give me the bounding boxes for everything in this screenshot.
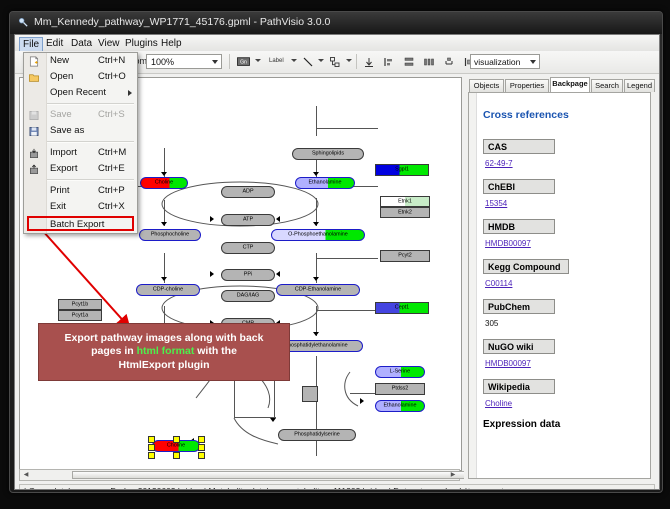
xref-link-kegg[interactable]: C00114	[485, 279, 512, 288]
xref-title-hmdb: HMDB	[488, 222, 515, 232]
menu-accel-import: Ctrl+M	[98, 147, 126, 158]
edge	[316, 310, 378, 311]
zoom-value: 100%	[151, 57, 174, 67]
distribute-icon	[423, 56, 435, 68]
xref-box-wikipedia: Wikipedia	[483, 379, 555, 394]
xref-title-nugo: NuGO wiki	[488, 342, 534, 352]
import-icon	[28, 148, 40, 159]
xref-link-wikipedia[interactable]: Choline	[485, 399, 512, 408]
svg-text:Gn: Gn	[240, 60, 247, 66]
resize-handle[interactable]	[173, 436, 180, 443]
xref-link-hmdb[interactable]: HMDB00097	[485, 239, 531, 248]
new-file-icon	[28, 56, 40, 67]
expression-data-heading: Expression data	[483, 419, 560, 430]
arrowhead	[161, 172, 167, 176]
line-caret-icon[interactable]	[318, 59, 324, 62]
resize-handle[interactable]	[173, 452, 180, 459]
save-icon	[28, 110, 40, 121]
label-caret-icon[interactable]	[291, 59, 297, 62]
arrowhead	[276, 271, 280, 277]
xref-box-hmdb: HMDB	[483, 219, 555, 234]
resize-handle[interactable]	[148, 444, 155, 451]
scroll-thumb[interactable]	[72, 471, 490, 479]
align-top-icon	[363, 56, 375, 68]
side-panel: Objects Properties Backpage Search Legen…	[464, 77, 655, 481]
node-adp[interactable]: ADP	[221, 186, 275, 198]
callout-line3: HtmlExport plugin	[119, 359, 210, 371]
node-cdp-choline[interactable]: CDP-choline	[136, 284, 200, 296]
arrowhead	[313, 277, 319, 281]
datanode-tool-button[interactable]: Gn	[234, 54, 251, 69]
node-etnk1[interactable]: Etnk1	[380, 196, 430, 207]
menu-item-save-as[interactable]: Save as	[24, 123, 137, 139]
xref-title-wikipedia: Wikipedia	[488, 382, 530, 392]
menu-label-print: Print	[50, 185, 70, 196]
xref-box-nugo: NuGO wiki	[483, 339, 555, 354]
arrowhead	[161, 222, 167, 226]
edge	[316, 128, 378, 129]
status-text: | Gene database: ...m_Derby_20120602.bri…	[24, 486, 529, 490]
zoom-combobox[interactable]: 100%	[146, 54, 222, 69]
menu-label-batch-export: Batch Export	[50, 219, 104, 230]
application-window: Mm_Kennedy_pathway_WP1771_45176.gpml - P…	[9, 11, 663, 493]
node-pcyt1b[interactable]: Pcyt1b	[58, 299, 102, 310]
toolbar-separator	[229, 54, 230, 69]
xref-link-cas[interactable]: 62-49-7	[485, 159, 513, 168]
menu-accel-new: Ctrl+N	[98, 55, 125, 66]
menu-accel-exit: Ctrl+X	[98, 201, 125, 212]
menu-item-export[interactable]: Export Ctrl+E	[24, 161, 137, 177]
xref-title-kegg: Kegg Compound	[488, 262, 561, 272]
xref-link-nugo[interactable]: HMDB00097	[485, 359, 531, 368]
callout-line2b: with the	[194, 345, 237, 357]
arrowhead	[313, 332, 319, 336]
tab-backpage[interactable]: Backpage	[550, 77, 590, 92]
tab-search[interactable]: Search	[591, 79, 623, 92]
resize-handle[interactable]	[148, 452, 155, 459]
node-sgpl1[interactable]: Sgpl1	[375, 164, 429, 176]
label-tool-button[interactable]: Label	[265, 54, 289, 69]
interaction-tool-button[interactable]	[328, 54, 343, 69]
arrowhead	[313, 172, 319, 176]
xref-title-pubchem: PubChem	[488, 302, 530, 312]
interaction-caret-icon[interactable]	[346, 59, 352, 62]
menu-item-save: Save Ctrl+S	[24, 107, 137, 123]
edge	[316, 356, 317, 456]
chevron-down-icon-2	[530, 60, 536, 64]
visualization-combobox[interactable]: visualization	[470, 54, 540, 69]
menu-accel-open: Ctrl+O	[98, 71, 126, 82]
callout-line1: Export pathway images along with back	[65, 332, 264, 344]
stack-center-icon	[403, 56, 415, 68]
menu-file[interactable]: File	[19, 37, 43, 52]
chevron-down-icon	[212, 60, 218, 64]
application-body: File Edit Data View Plugins Help Zoom: 1…	[14, 34, 660, 490]
resize-handle[interactable]	[198, 452, 205, 459]
arrowhead	[270, 418, 276, 422]
menu-item-import[interactable]: Import Ctrl+M	[24, 145, 137, 161]
arrowhead	[210, 271, 214, 277]
canvas-hscrollbar[interactable]: ◀ ▶	[19, 469, 460, 481]
menu-label-open: Open	[50, 71, 73, 82]
menu-bar: File Edit Data View Plugins Help	[15, 35, 659, 52]
menu-data[interactable]: Data	[67, 37, 96, 50]
resize-handle[interactable]	[148, 436, 155, 443]
tab-legend[interactable]: Legend	[624, 79, 655, 92]
menu-item-print[interactable]: Print Ctrl+P	[24, 183, 137, 199]
screenshot-root: Mm_Kennedy_pathway_WP1771_45176.gpml - P…	[0, 0, 670, 509]
menu-label-export: Export	[50, 163, 77, 174]
node-unlabeled-box[interactable]	[302, 386, 318, 402]
node-cept1[interactable]: Cept1	[375, 302, 429, 314]
sidebar-scroll-gutter[interactable]	[469, 93, 477, 478]
menu-label-save: Save	[50, 109, 72, 120]
node-atp[interactable]: ATP	[221, 214, 275, 226]
xref-title-chebi: ChEBI	[488, 182, 515, 192]
annotation-callout: Export pathway images along with back pa…	[38, 323, 290, 381]
resize-handle[interactable]	[198, 436, 205, 443]
common-size-button[interactable]	[442, 54, 457, 69]
arrowhead	[161, 277, 167, 281]
arrowhead	[360, 398, 364, 404]
status-bar: | Gene database: ...m_Derby_20120602.bri…	[19, 484, 655, 490]
menu-item-open-recent[interactable]: Open Recent	[24, 85, 137, 101]
edge	[316, 258, 378, 259]
node-ptdss2[interactable]: Ptdss2	[375, 383, 425, 395]
submenu-arrow-icon	[128, 90, 132, 96]
xref-title-cas: CAS	[488, 142, 507, 152]
menu-label-open-recent: Open Recent	[50, 87, 106, 98]
window-title: Mm_Kennedy_pathway_WP1771_45176.gpml - P…	[34, 16, 330, 28]
xref-box-pubchem: PubChem	[483, 299, 555, 314]
visualization-value: visualization	[474, 57, 520, 67]
menu-accel-export: Ctrl+E	[98, 163, 125, 174]
scroll-right-icon[interactable]: ▶	[448, 471, 458, 479]
xref-box-kegg: Kegg Compound	[483, 259, 569, 274]
align-left-button[interactable]	[382, 54, 397, 69]
sidebar-tabstrip: Objects Properties Backpage Search Legen…	[464, 77, 655, 92]
folder-open-icon	[28, 72, 40, 83]
datanode-icon: Gn	[236, 56, 251, 68]
node-o-phosphoethanolamine[interactable]: O-Phosphoethanolamine	[271, 229, 365, 241]
export-icon	[28, 164, 40, 175]
node-ethanolamine[interactable]: Ethanolamine	[295, 177, 355, 189]
menu-item-batch-export[interactable]: Batch Export	[24, 215, 137, 233]
arrowhead	[210, 216, 214, 222]
menu-help[interactable]: Help	[157, 37, 186, 50]
tab-properties[interactable]: Properties	[505, 79, 549, 92]
node-phosphatidylserine[interactable]: Phosphatidylserine	[278, 429, 356, 441]
backpage-content: Cross references CAS 62-49-7 ChEBI 15354…	[468, 92, 651, 479]
menu-label-exit: Exit	[50, 201, 66, 212]
menu-view[interactable]: View	[94, 37, 124, 50]
align-top-button[interactable]	[362, 54, 377, 69]
menu-item-new[interactable]: New Ctrl+N	[24, 53, 137, 69]
node-ctp[interactable]: CTP	[221, 242, 275, 254]
label-tool-text: Label	[269, 58, 284, 64]
callout-line2a: pages in	[91, 345, 137, 357]
tab-objects[interactable]: Objects	[469, 79, 504, 92]
menu-label-save-as: Save as	[50, 125, 84, 136]
common-size-icon	[443, 56, 455, 68]
node-choline[interactable]: Choline	[140, 177, 188, 189]
window-title-bar[interactable]: Mm_Kennedy_pathway_WP1771_45176.gpml - P…	[10, 12, 662, 34]
resize-handle[interactable]	[198, 444, 205, 451]
file-menu-dropdown[interactable]: New Ctrl+N Open Ctrl+O Open Recent	[23, 52, 138, 234]
node-dag-iag[interactable]: DAG/IAG	[221, 290, 275, 302]
pathvisio-icon	[18, 17, 29, 28]
callout-html-format: html format	[137, 345, 195, 357]
node-phosphocholine[interactable]: Phosphocholine	[139, 229, 201, 241]
menu-label-import: Import	[50, 147, 77, 158]
xref-value-pubchem: 305	[485, 319, 498, 328]
scroll-left-icon[interactable]: ◀	[21, 471, 31, 479]
menu-plugins[interactable]: Plugins	[121, 37, 162, 50]
menu-item-open[interactable]: Open Ctrl+O	[24, 69, 137, 85]
node-l-serine[interactable]: L-Serine	[375, 366, 425, 378]
menu-accel-save: Ctrl+S	[98, 109, 125, 120]
stack-center-button[interactable]	[402, 54, 417, 69]
node-sphingolipids[interactable]: Sphingolipids	[292, 148, 364, 160]
menu-item-exit[interactable]: Exit Ctrl+X	[24, 199, 137, 215]
node-cdp-ethanolamine[interactable]: CDP-Ethanolamine	[276, 284, 360, 296]
node-etnk2[interactable]: Etnk2	[380, 207, 430, 218]
arrowhead	[313, 222, 319, 226]
line-icon	[302, 56, 314, 68]
node-ethanolamine-2[interactable]: Ethanolamine	[375, 400, 425, 412]
node-pcyt1a[interactable]: Pcyt1a	[58, 310, 102, 321]
arrowhead	[276, 216, 280, 222]
xref-link-chebi[interactable]: 15354	[485, 199, 507, 208]
xref-box-chebi: ChEBI	[483, 179, 555, 194]
interaction-icon	[329, 56, 341, 68]
align-left-icon	[383, 56, 395, 68]
xref-box-cas: CAS	[483, 139, 555, 154]
node-ppi[interactable]: PPi	[221, 269, 275, 281]
edge	[350, 393, 376, 394]
line-tool-button[interactable]	[301, 54, 315, 69]
datanode-caret-icon[interactable]	[255, 59, 261, 62]
distribute-button[interactable]	[422, 54, 437, 69]
menu-accel-print: Ctrl+P	[98, 185, 125, 196]
node-pcyt2[interactable]: Pcyt2	[380, 250, 430, 262]
cross-references-heading: Cross references	[483, 109, 569, 121]
edge	[316, 106, 317, 136]
save-as-icon	[28, 126, 40, 137]
toolbar-separator-2	[356, 54, 357, 69]
menu-edit[interactable]: Edit	[42, 37, 67, 50]
menu-label-new: New	[50, 55, 69, 66]
